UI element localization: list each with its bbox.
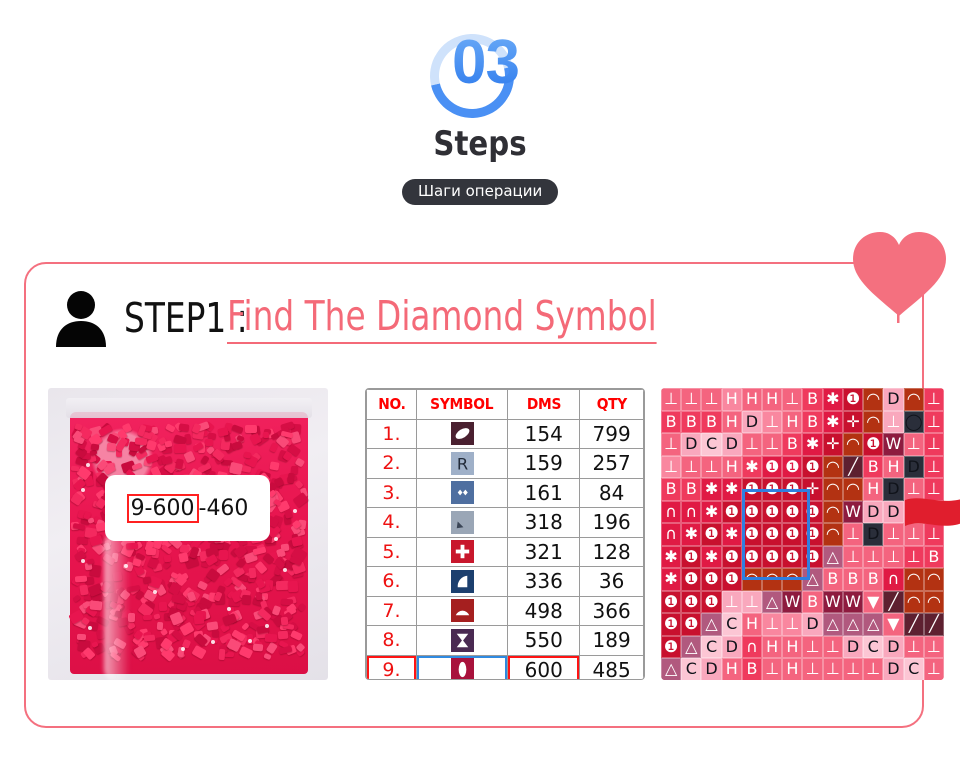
grid-cell: ⊥ [924,456,944,479]
bead [248,568,256,579]
bead [135,437,148,445]
heart-icon [850,228,950,323]
table-row[interactable]: 1.154799 [367,419,644,449]
bead [159,602,167,611]
step-title-row: STEP1 : Find The Diamond Symbol [50,286,764,350]
bead-highlight [181,647,185,651]
grid-cell: ❶ [802,456,822,479]
bead [242,595,251,604]
bead [153,613,161,620]
grid-cell: H [722,658,742,680]
grid-cell: ⊥ [762,433,782,456]
grid-cell: W [843,501,863,524]
cell-qty: 189 [580,626,644,656]
grid-cell: ❶ [762,478,782,501]
grid-cell: D [722,636,742,659]
grid-cell: ◠ [904,388,924,411]
table-row[interactable]: 7.498366 [367,596,644,626]
cell-dms: 550 [508,626,580,656]
grid-cell: ❶ [742,546,762,569]
bead [183,451,195,464]
grid-cell: ╱ [924,613,944,636]
bead [156,622,163,631]
grid-cell: D [742,411,762,434]
cell-symbol [416,655,507,680]
bead [266,642,278,654]
page-header: 03 Steps Шаги операции [0,0,960,215]
half-dome-icon [451,599,474,622]
bead [74,576,86,583]
grid-cell: H [782,411,802,434]
grid-cell: △ [843,613,863,636]
grid-cell: ❶ [762,456,782,479]
bead [252,643,263,651]
grid-cell: ❶ [681,613,701,636]
grid-cell: ⊥ [782,613,802,636]
grid-cell: ◠ [843,433,863,456]
grid-cell: ✱ [823,411,843,434]
grid-cell: C [701,636,721,659]
grid-cell: ✱ [701,546,721,569]
table-row[interactable]: 6.33636 [367,567,644,597]
step-number-badge: 03 [430,30,530,122]
table-row[interactable]: 5.321128 [367,537,644,567]
col-header-symbol: SYMBOL [420,390,504,420]
bead-highlight [283,568,287,572]
bead [174,443,186,452]
table-row[interactable]: 8.550189 [367,626,644,656]
grid-cell: ◠ [904,591,924,614]
cell-no: 8. [367,626,417,656]
bead [194,613,205,624]
cell-no: 9. [367,655,417,680]
grid-cell: ⊥ [904,433,924,456]
grid-cell: ❶ [762,501,782,524]
grid-cell: ◠ [742,568,762,591]
ellipse-diagonal-icon [451,422,474,445]
grid-cell: ❶ [681,546,701,569]
grid-cell: ⊥ [661,388,681,411]
cell-no: 1. [367,419,417,449]
grid-cell: ▼ [863,591,883,614]
grid-cell: B [802,411,822,434]
grid-cell: ⊥ [742,591,762,614]
grid-cell: ❶ [863,433,883,456]
grid-cell: B [924,546,944,569]
cell-no: 3. [367,478,417,508]
table-header-row: NO. SYMBOL DMS QTY [367,390,644,420]
cell-dms: 318 [508,508,580,538]
grid-cell: ⊥ [883,523,903,546]
grid-cell: B [823,568,843,591]
bead [192,645,207,660]
bead-highlight [153,590,157,594]
grid-cell: ❶ [701,523,721,546]
cell-qty: 84 [580,478,644,508]
grid-cell: ⊥ [843,546,863,569]
grid-cell: ⊥ [924,658,944,680]
bead [278,630,288,638]
grid-cell: △ [863,613,883,636]
grid-cell: ✱ [722,523,742,546]
cell-dms: 600 [508,655,580,680]
grid-cell: ❶ [742,478,762,501]
bead [90,601,103,611]
grid-cell: ⊥ [863,658,883,680]
grid-cell: ❶ [661,591,681,614]
grid-cell: ✛ [823,433,843,456]
bead [245,425,257,433]
bead [222,613,237,625]
grid-cell: D [863,523,883,546]
grid-cell: ❶ [802,546,822,569]
grid-cell: C [863,636,883,659]
bead [262,432,269,438]
grid-cell: ⊥ [802,636,822,659]
cell-symbol [416,537,507,567]
grid-cell: D [802,613,822,636]
grid-cell: ⊥ [782,388,802,411]
table-row[interactable]: 4.318196 [367,508,644,538]
grid-cell: ✱ [742,456,762,479]
bead [239,645,254,658]
diamond-bag-photo: 9-600-460 [48,388,328,680]
arrow-down-left-icon [451,511,474,534]
cell-symbol [416,596,507,626]
bead [72,595,81,603]
bead [219,550,228,560]
cell-no: 6. [367,567,417,597]
grid-cell: ◠ [762,568,782,591]
grid-cell: H [722,456,742,479]
svg-text:R: R [456,454,467,473]
bead-highlight [86,463,90,467]
grid-cell: ❶ [722,546,742,569]
grid-cell: ⊥ [701,456,721,479]
grid-cell: D [883,388,903,411]
grid-cell: B [843,568,863,591]
bead [146,439,158,450]
bead [165,440,174,448]
bead [163,555,171,563]
grid-cell: H [883,456,903,479]
cell-dms: 161 [508,478,580,508]
grid-cell: ◠ [823,478,843,501]
bead [77,634,86,640]
grid-cell: ╱ [843,456,863,479]
grid-cell: H [863,478,883,501]
bead [243,451,251,458]
grid-cell: ◠ [843,478,863,501]
double-diamond-icon [451,481,474,504]
bag-zipper [66,398,312,418]
bead [212,630,220,637]
grid-cell: ❶ [802,523,822,546]
bead [161,544,173,555]
hourglass-icon [451,629,474,652]
grid-cell: △ [802,568,822,591]
grid-cells: ⊥⊥⊥HHH⊥B✱❶◠D◠⊥BBBHD⊥HB✱✛◠⊥◯⊥⊥DCD⊥⊥B✱✛◠❶W… [661,388,944,680]
person-icon [50,287,112,349]
grid-cell: ◠ [823,523,843,546]
grid-cell: ❶ [762,523,782,546]
grid-cell: H [762,636,782,659]
bead-highlight [227,607,231,611]
grid-cell: ✱ [722,478,742,501]
bag-label-text: 9-600-460 [127,494,249,523]
plus-cross-icon [451,540,474,563]
bead-highlight [81,559,85,563]
cell-qty: 366 [580,596,644,626]
grid-cell: ❶ [742,523,762,546]
bead-highlight [88,626,92,630]
grid-cell: ⊥ [661,456,681,479]
diamond-canvas-grid[interactable]: ⊥⊥⊥HHH⊥B✱❶◠D◠⊥BBBHD⊥HB✱✛◠⊥◯⊥⊥DCD⊥⊥B✱✛◠❶W… [661,388,944,680]
bead [265,634,278,643]
bag-label: 9-600-460 [105,475,270,541]
bead [284,509,293,518]
grid-cell: ◠ [924,591,944,614]
grid-cell: ✱ [802,433,822,456]
bead [294,479,303,488]
bead [71,465,79,471]
grid-cell: ❶ [661,636,681,659]
grid-cell: ❶ [782,546,802,569]
bead [255,592,262,600]
grid-cell: B [681,411,701,434]
grid-cell: B [701,411,721,434]
bead [219,649,226,660]
grid-cell: ⊥ [722,591,742,614]
bag-body [70,412,308,674]
grid-cell: H [722,388,742,411]
cell-qty: 257 [580,449,644,479]
grid-cell: ⊥ [843,658,863,680]
cell-dms: 336 [508,567,580,597]
bead [270,442,279,452]
grid-cell: △ [823,546,843,569]
grid-cell: ❶ [782,478,802,501]
bead-highlight [265,624,269,628]
grid-cell: W [883,433,903,456]
grid-cell: ⊥ [843,523,863,546]
cell-symbol [416,508,507,538]
grid-cell: D [701,658,721,680]
grid-cell: D [843,636,863,659]
bead [143,615,152,621]
cell-no: 7. [367,596,417,626]
grid-cell: ⊥ [762,613,782,636]
grid-cell: D [863,501,883,524]
grid-cell: ⊥ [924,388,944,411]
panels-row: 9-600-460 NO. SYMBOL DMS QTY 1.1547992.R… [24,388,924,680]
bead-highlight [81,488,85,492]
quarter-arc-icon [451,570,474,593]
grid-cell: ✱ [701,478,721,501]
table-row[interactable]: 3.16184 [367,478,644,508]
col-header-dms: DMS [511,390,577,420]
grid-cell: △ [661,658,681,680]
bead [144,634,156,641]
grid-cell: ✱ [823,388,843,411]
grid-cell: ╱ [883,591,903,614]
grid-cell: ⊥ [924,411,944,434]
grid-cell: H [722,411,742,434]
grid-cell: ❶ [722,568,742,591]
bead [231,440,243,450]
grid-cell: ∩ [681,501,701,524]
grid-cell: ❶ [802,501,822,524]
grid-cell: ⊥ [802,658,822,680]
grid-cell: ◯ [904,411,924,434]
grid-cell: ⊥ [701,388,721,411]
grid-cell: ◠ [924,568,944,591]
grid-cell: B [661,411,681,434]
cell-symbol [416,419,507,449]
cell-qty: 36 [580,567,644,597]
bead [264,653,273,660]
grid-cell: ❶ [782,523,802,546]
page-title: Steps [67,124,893,164]
grid-cell: B [863,456,883,479]
bead [229,462,243,475]
grid-cell: H [742,613,762,636]
bead [298,603,307,612]
grid-cell: △ [823,613,843,636]
grid-cell: ✛ [802,478,822,501]
grid-cell: ✱ [701,501,721,524]
bag-label-suffix: -460 [199,496,249,521]
grid-cell: ⊥ [823,658,843,680]
grid-cell: ⊥ [924,636,944,659]
grid-cell: ❶ [762,546,782,569]
grid-cell: ❶ [661,613,681,636]
grid-cell: ⊥ [762,411,782,434]
bead-highlight [293,509,297,513]
bead [281,617,289,625]
grid-cell: ⊥ [883,411,903,434]
grid-cell: ❶ [782,456,802,479]
grid-cell: ⊥ [863,546,883,569]
bead-highlight [211,640,215,644]
grid-cell: ◠ [863,411,883,434]
table-row[interactable]: 9.600485 [367,655,644,680]
bead [76,536,88,544]
grid-cell: ⊥ [661,433,681,456]
grid-cell: ╱ [904,613,924,636]
bead [107,442,117,451]
grid-cell: ✛ [843,411,863,434]
grid-cell: C [681,658,701,680]
cell-no: 2. [367,449,417,479]
grid-cell: ❶ [742,501,762,524]
step-headline: Find The Diamond Symbol [227,292,657,344]
grid-cell: ✱ [681,523,701,546]
grid-cell: ∩ [883,568,903,591]
cell-qty: 128 [580,537,644,567]
table-row[interactable]: 2.R159257 [367,449,644,479]
grid-cell: B [802,591,822,614]
cell-dms: 159 [508,449,580,479]
bead [288,473,295,484]
grid-cell: ⊥ [681,388,701,411]
grid-cell: C [701,433,721,456]
cell-symbol [416,567,507,597]
grid-cell: ◠ [782,568,802,591]
grid-cell: ⊥ [742,433,762,456]
grid-cell: ❶ [843,388,863,411]
bead [290,630,303,641]
cell-symbol [416,626,507,656]
grid-cell: ▼ [883,613,903,636]
bead-highlight [274,537,278,541]
cell-symbol: R [416,449,507,479]
dmc-legend-table: NO. SYMBOL DMS QTY 1.1547992.R1592573.16… [365,388,645,680]
grid-cell: ✱ [661,546,681,569]
cell-qty: 799 [580,419,644,449]
grid-cell: ⊥ [762,658,782,680]
bead [205,439,213,447]
bead [179,424,190,432]
vertical-ellipse-icon [451,658,474,680]
cell-dms: 321 [508,537,580,567]
ribbon-icon [905,492,960,536]
grid-cell: H [782,636,802,659]
grid-cell: D [883,636,903,659]
grid-cell: W [823,591,843,614]
bead [79,585,89,596]
col-header-no: NO. [368,390,414,420]
grid-cell: H [782,658,802,680]
cell-dms: 154 [508,419,580,449]
grid-cell: △ [762,591,782,614]
bead [288,581,299,592]
bead [223,577,233,587]
grid-cell: ∩ [661,523,681,546]
bag-sheen [104,532,130,680]
grid-cell: H [742,388,762,411]
grid-cell: ❶ [782,501,802,524]
grid-cell: ⊥ [883,546,903,569]
grid-cell: ⊥ [823,636,843,659]
grid-cell: ⊥ [904,636,924,659]
grid-cell: C [904,658,924,680]
grid-cell: D [722,433,742,456]
grid-cell: C [722,613,742,636]
grid-cell: ⊥ [681,456,701,479]
grid-cell: ❶ [722,501,742,524]
grid-cell: ◠ [863,388,883,411]
grid-cell: D [904,456,924,479]
grid-cell: ⊥ [924,433,944,456]
bag-label-code: 9-600 [127,494,199,523]
cell-symbol [416,478,507,508]
bead [231,424,244,434]
grid-cell: ◠ [823,501,843,524]
bead [254,560,267,574]
grid-cell: D [681,433,701,456]
grid-cell: D [883,501,903,524]
grid-cell: ❶ [701,568,721,591]
grid-cell: B [802,388,822,411]
grid-cell: D [883,658,903,680]
grid-cell: ⊥ [904,546,924,569]
grid-cell: ❶ [681,591,701,614]
grid-cell: W [782,591,802,614]
grid-cell: △ [681,636,701,659]
grid-cell: H [762,388,782,411]
cell-qty: 485 [580,655,644,680]
